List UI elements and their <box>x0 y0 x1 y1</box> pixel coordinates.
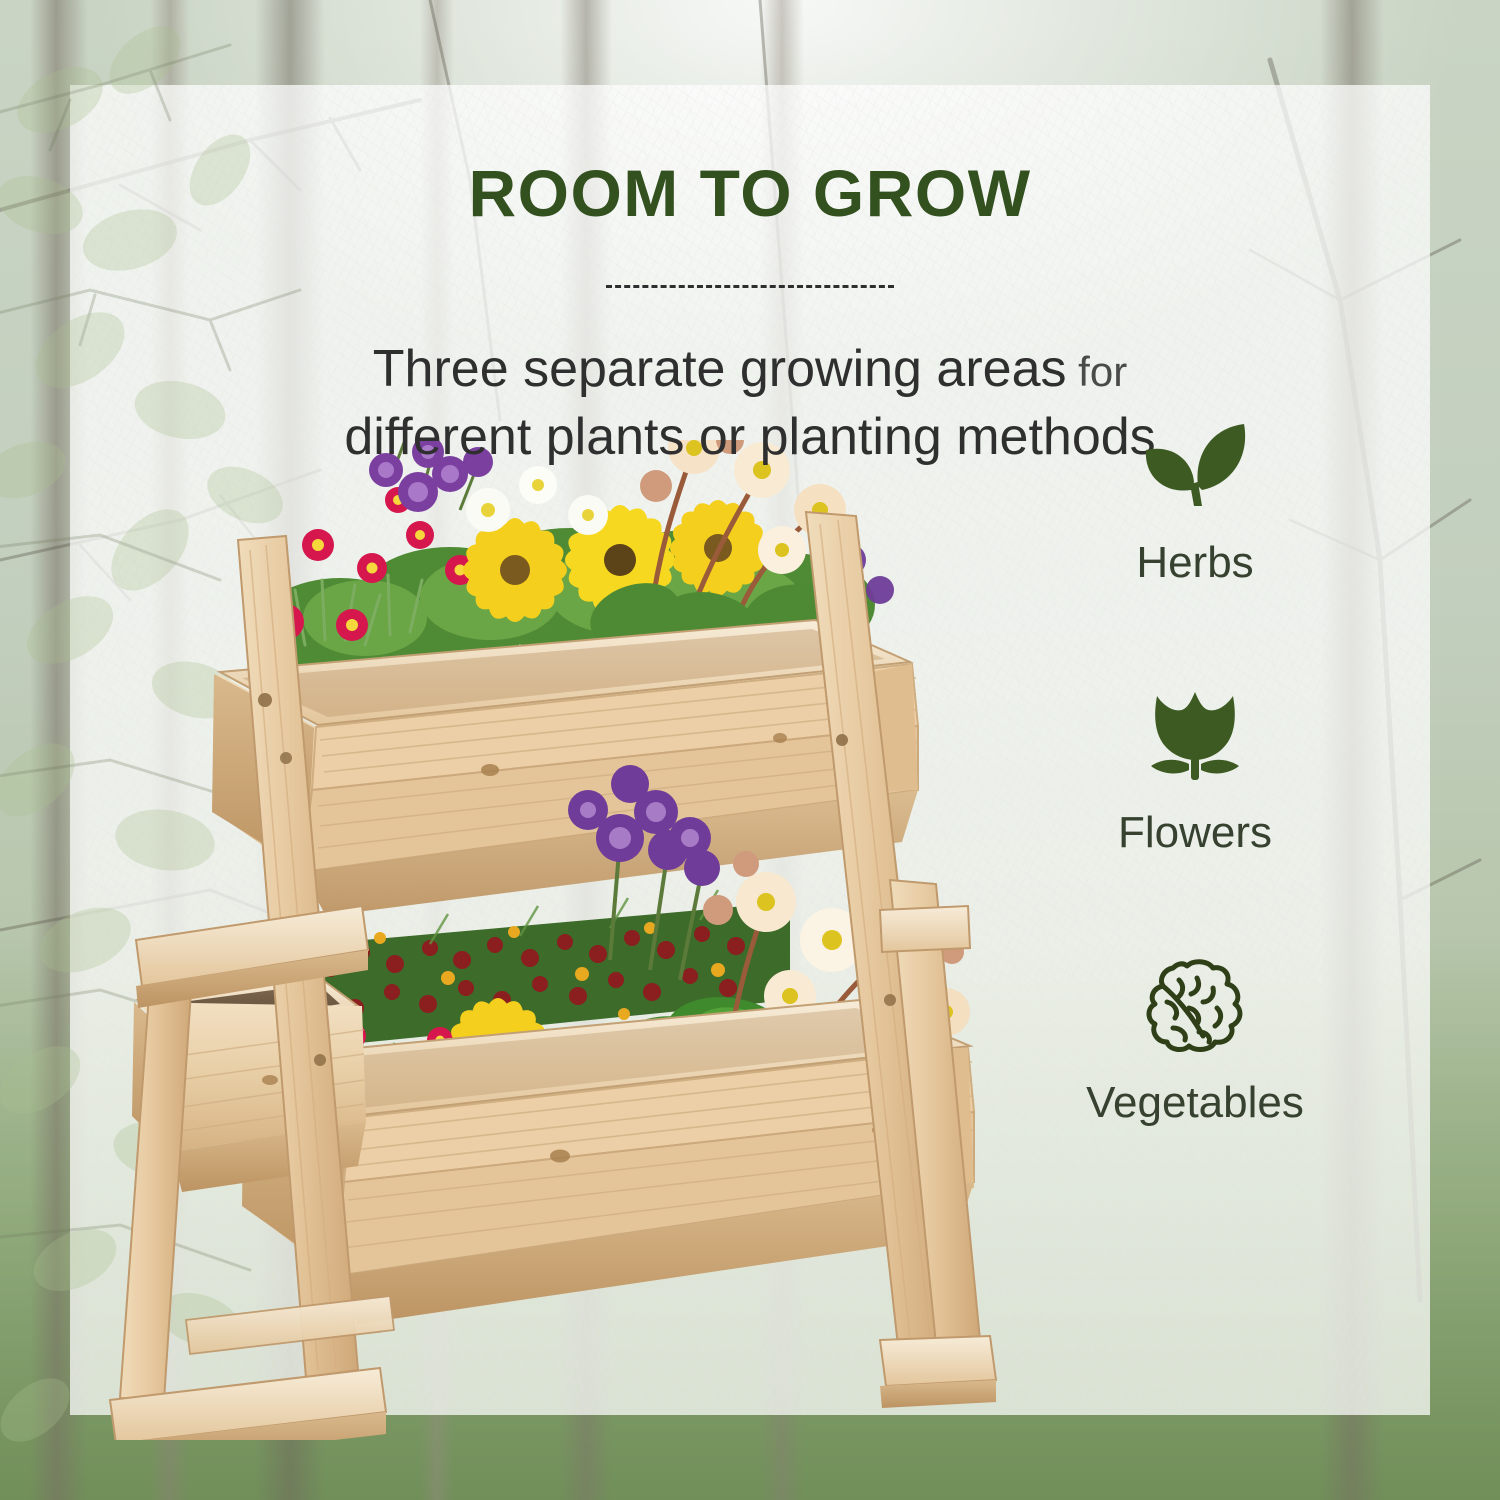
feature-label-flowers: Flowers <box>1035 808 1355 858</box>
feature-item-vegetables: Vegetables <box>1035 960 1355 1230</box>
feature-item-herbs: Herbs <box>1035 420 1355 690</box>
tulip-flower-icon <box>1035 690 1355 782</box>
feature-label-herbs: Herbs <box>1035 538 1355 588</box>
feature-label-vegetables: Vegetables <box>1035 1078 1355 1128</box>
raised-garden-bed-product-image <box>90 440 1050 1440</box>
sprout-leaves-icon <box>1035 420 1355 512</box>
top-planter-box <box>212 620 918 916</box>
feature-item-flowers: Flowers <box>1035 690 1355 960</box>
feature-list: Herbs Flowers <box>1035 420 1355 1230</box>
lettuce-head-icon <box>1035 960 1355 1052</box>
product-feature-image: ROOM TO GROW Three separate growing area… <box>0 0 1500 1500</box>
